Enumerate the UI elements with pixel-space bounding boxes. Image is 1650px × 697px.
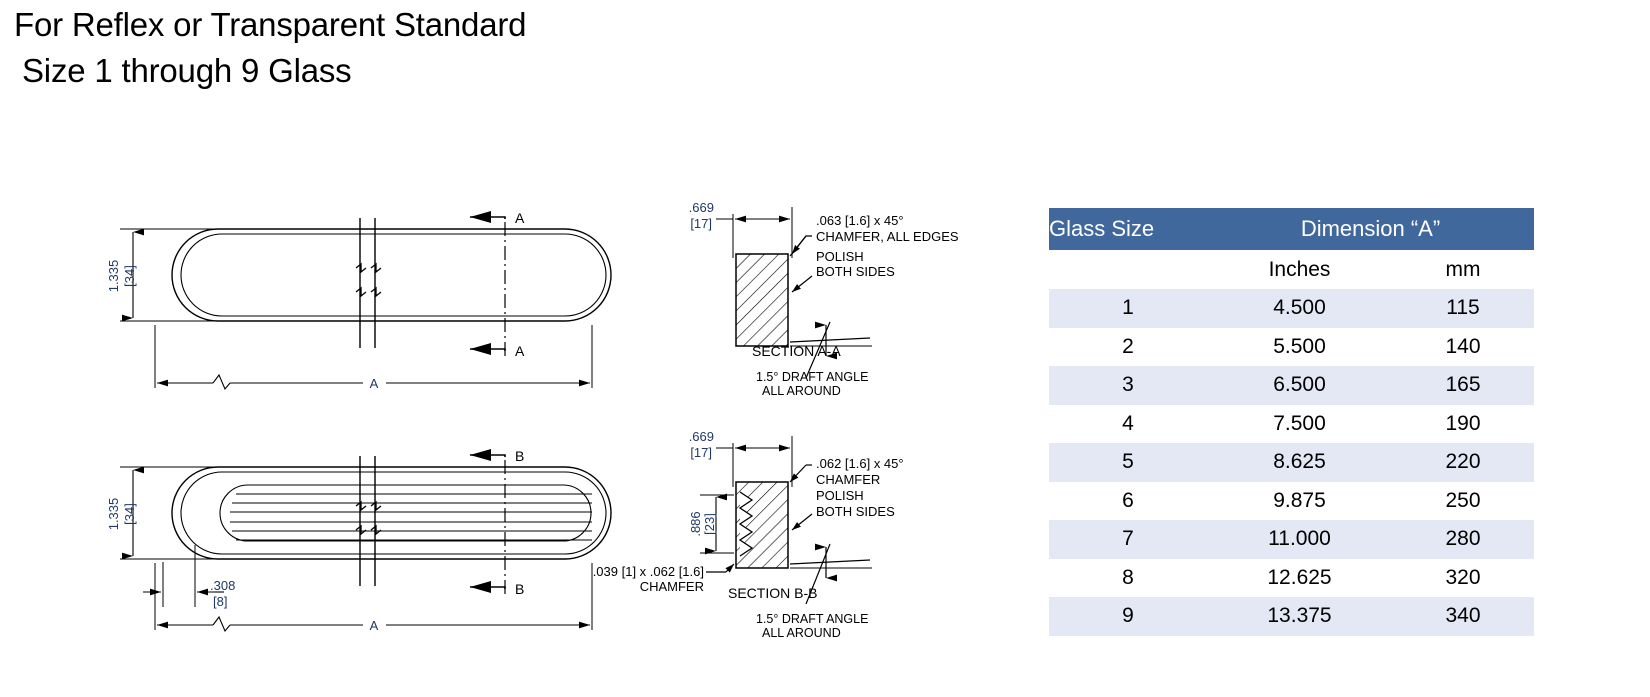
section-aa-draft-note-1: 1.5° DRAFT ANGLE [756,370,868,384]
section-bb-width-inch: .669 [689,429,714,444]
section-bb-drawing: .669 [17] .886 [23] .062 [1.6] x 45° CHA… [593,429,904,640]
section-bb-height-inch: .886 [688,511,703,536]
section-aa-draft-note-2: ALL AROUND [762,384,841,398]
section-aa-width-inch: .669 [689,200,714,215]
cell-glass-size: 5 [1049,443,1207,482]
cell-glass-size: 6 [1049,482,1207,521]
cell-inches: 6.500 [1207,366,1392,405]
section-bb-draft-note-1: 1.5° DRAFT ANGLE [756,612,868,626]
bottom-view-height-mm: [34] [122,503,137,525]
section-arrow-label-a-top: A [515,210,525,226]
cell-mm: 190 [1392,405,1534,444]
section-aa-polish-note-1: POLISH [816,249,864,264]
table-units-row: Inches mm [1049,250,1534,289]
bottom-view-drawing: 1.335 [34] .308 [8] A B B [106,448,611,633]
table-row: 2 5.500 140 [1049,328,1534,367]
table-row: 6 9.875 250 [1049,482,1534,521]
section-bb-groove-chamfer-2: CHAMFER [640,579,704,594]
cell-inches: 5.500 [1207,328,1392,367]
cell-mm: 320 [1392,559,1534,598]
cell-glass-size: 7 [1049,520,1207,559]
table-row: 8 12.625 320 [1049,559,1534,598]
column-header-glass-size: Glass Size [1049,208,1207,250]
section-aa-width-mm: [17] [690,216,712,231]
table-row: 7 11.000 280 [1049,520,1534,559]
table-body: Inches mm 1 4.500 115 2 5.500 140 3 6.50… [1049,250,1534,636]
cell-mm: 250 [1392,482,1534,521]
section-aa-drawing: .669 [17] .063 [1.6] x 45° CHAMFER, ALL … [689,200,959,398]
section-bb-polish-note-2: BOTH SIDES [816,504,895,519]
section-bb-chamfer-note-2: CHAMFER [816,472,880,487]
bottom-view-height-inch: 1.335 [106,498,121,531]
cell-mm: 115 [1392,289,1534,328]
top-view-height-mm: [34] [122,265,137,287]
cell-glass-size: 8 [1049,559,1207,598]
cell-inches: 9.875 [1207,482,1392,521]
section-bb-title: SECTION B-B [728,585,817,601]
section-arrow-label-a-bottom: A [515,343,525,359]
cell-glass-size: 3 [1049,366,1207,405]
cell-inches: 8.625 [1207,443,1392,482]
page-root: For Reflex or Transparent Standard Size … [0,0,1650,697]
section-bb-groove-chamfer-1: .039 [1] x .062 [1.6] [593,564,704,579]
table-row: 1 4.500 115 [1049,289,1534,328]
cell-mm: 280 [1392,520,1534,559]
units-cell-mm: mm [1392,250,1534,289]
top-view-height-inch: 1.335 [106,260,121,293]
cell-glass-size: 1 [1049,289,1207,328]
technical-drawing: 1.335 [34] A A A [0,0,1030,697]
section-bb-polish-note-1: POLISH [816,488,864,503]
cell-inches: 11.000 [1207,520,1392,559]
dimension-table: Glass Size Dimension “A” Inches mm 1 4.5… [1049,208,1534,636]
table-row: 4 7.500 190 [1049,405,1534,444]
groove-offset-mm: [8] [213,594,227,609]
cell-mm: 220 [1392,443,1534,482]
column-header-dimension-a: Dimension “A” [1207,208,1534,250]
table-row: 9 13.375 340 [1049,597,1534,636]
units-cell-inches: Inches [1207,250,1392,289]
section-bb-height-mm: [23] [702,513,717,535]
section-aa-polish-note-2: BOTH SIDES [816,264,895,279]
groove-offset-inch: .308 [210,578,235,593]
table-row: 5 8.625 220 [1049,443,1534,482]
cell-inches: 7.500 [1207,405,1392,444]
section-arrow-label-b-bottom: B [515,581,524,597]
units-cell-size [1049,250,1207,289]
cell-inches: 12.625 [1207,559,1392,598]
cell-glass-size: 4 [1049,405,1207,444]
cell-mm: 340 [1392,597,1534,636]
cell-inches: 13.375 [1207,597,1392,636]
top-view-length-label: A [370,376,379,391]
section-bb-chamfer-note-1: .062 [1.6] x 45° [816,456,904,471]
bottom-view-length-label: A [370,618,379,633]
top-view-drawing: 1.335 [34] A A A [106,210,611,391]
section-bb-draft-note-2: ALL AROUND [762,626,841,640]
section-bb-width-mm: [17] [690,445,712,460]
section-aa-chamfer-note-1: .063 [1.6] x 45° [816,213,904,228]
cell-glass-size: 9 [1049,597,1207,636]
section-arrow-label-b-top: B [515,448,524,464]
cell-inches: 4.500 [1207,289,1392,328]
cell-glass-size: 2 [1049,328,1207,367]
table-row: 3 6.500 165 [1049,366,1534,405]
cell-mm: 165 [1392,366,1534,405]
table-header-row: Glass Size Dimension “A” [1049,208,1534,250]
table-header: Glass Size Dimension “A” [1049,208,1534,250]
section-aa-chamfer-note-2: CHAMFER, ALL EDGES [816,229,959,244]
section-aa-title: SECTION A-A [752,343,841,359]
cell-mm: 140 [1392,328,1534,367]
